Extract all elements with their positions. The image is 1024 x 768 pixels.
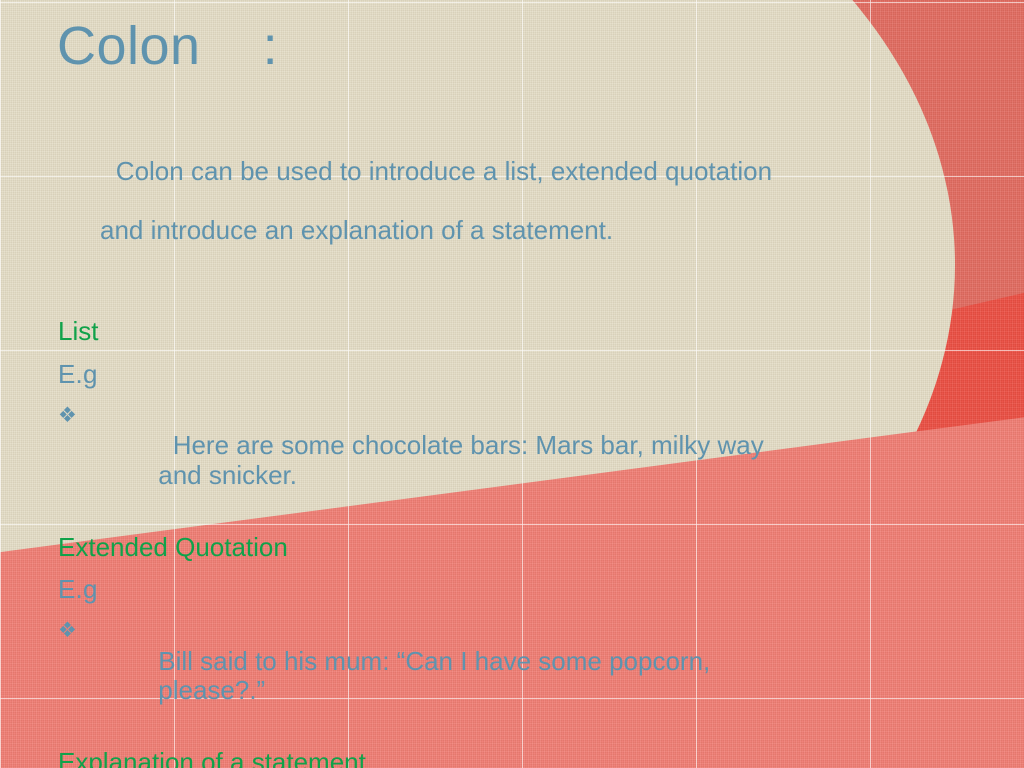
slide-body: Colon can be used to introduce a list, e… (58, 128, 918, 768)
intro-paragraph-line-2: and introduce an explanation of a statem… (58, 216, 863, 245)
heading-list: List (58, 317, 918, 346)
bullet-popcorn-quote: ❖ Bill said to his mum: “Can I have some… (58, 617, 858, 735)
bullet-chocolate-bars-line-2: and snicker. (158, 460, 297, 490)
slide: Colon : Colon can be used to introduce a… (0, 0, 1024, 768)
bullet-popcorn-quote-line-2: please?.” (158, 675, 265, 705)
bullet-popcorn-quote-line-1: Bill said to his mum: “Can I have some p… (158, 646, 710, 676)
bullet-chocolate-bars: ❖ Here are some chocolate bars: Mars bar… (58, 402, 858, 520)
eg-label-list: E.g (58, 360, 918, 389)
bullet-popcorn-quote-text: Bill said to his mum: “Can I have some p… (86, 617, 858, 735)
intro-paragraph: Colon can be used to introduce a list, e… (58, 128, 863, 304)
bullet-chocolate-bars-text: Here are some chocolate bars: Mars bar, … (86, 402, 858, 520)
bullet-chocolate-bars-line-1: Here are some chocolate bars: Mars bar, … (158, 430, 763, 460)
heading-explanation: Explanation of a statement (58, 748, 918, 768)
diamond-bullet-icon: ❖ (58, 617, 86, 645)
page-title: Colon : (57, 14, 278, 79)
intro-paragraph-line-1: Colon can be used to introduce a list, e… (116, 156, 772, 186)
slide-content: Colon : Colon can be used to introduce a… (0, 0, 1024, 768)
heading-extended-quotation: Extended Quotation (58, 533, 918, 562)
eg-label-quotation: E.g (58, 575, 918, 604)
diamond-bullet-icon: ❖ (58, 402, 86, 430)
